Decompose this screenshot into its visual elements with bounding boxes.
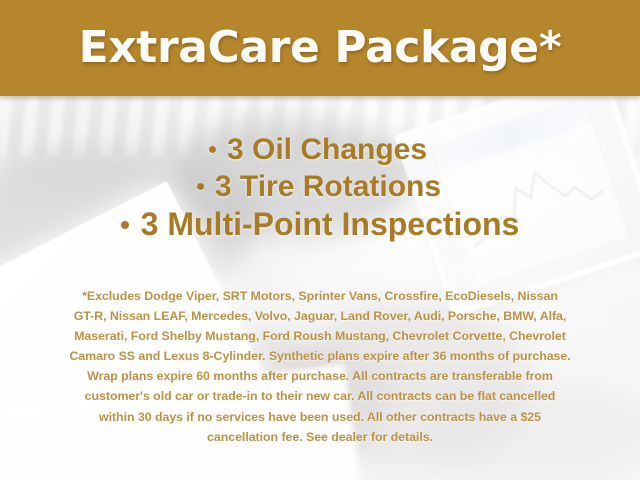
list-item: 3 Tire Rotations xyxy=(197,171,443,203)
disclaimer-line: Maserati, Ford Shelby Mustang, Ford Rous… xyxy=(36,326,604,346)
header-banner: ExtraCare Package* xyxy=(0,0,640,96)
disclaimer-line: Camaro SS and Lexus 8-Cylinder. Syntheti… xyxy=(36,346,604,366)
disclaimer-line: *Excludes Dodge Viper, SRT Motors, Sprin… xyxy=(36,286,604,306)
bullet-dot-icon xyxy=(209,146,216,153)
disclaimer-line: cancellation fee. See dealer for details… xyxy=(36,427,604,447)
disclaimer-line: customer's old car or trade-in to their … xyxy=(36,386,604,406)
bullet-dot-icon xyxy=(197,183,204,190)
disclaimer-line: within 30 days if no services have been … xyxy=(36,407,604,427)
disclaimer-line: GT-R, Nissan LEAF, Mercedes, Volvo, Jagu… xyxy=(36,306,604,326)
benefits-list: 3 Oil Changes 3 Tire Rotations 3 Multi-P… xyxy=(0,134,640,242)
page-title: ExtraCare Package* xyxy=(79,26,562,70)
benefit-label: 3 Oil Changes xyxy=(227,134,427,166)
disclaimer-line: Wrap plans expire 60 months after purcha… xyxy=(36,366,604,386)
list-item: 3 Oil Changes xyxy=(209,134,431,166)
disclaimer-text: *Excludes Dodge Viper, SRT Motors, Sprin… xyxy=(36,286,604,447)
benefit-label: 3 Multi-Point Inspections xyxy=(141,208,520,242)
bullet-dot-icon xyxy=(121,221,129,229)
extracare-package-ad: ExtraCare Package* 3 Oil Changes 3 Tire … xyxy=(0,0,640,480)
benefit-label: 3 Tire Rotations xyxy=(215,171,441,203)
list-item: 3 Multi-Point Inspections xyxy=(121,208,520,242)
